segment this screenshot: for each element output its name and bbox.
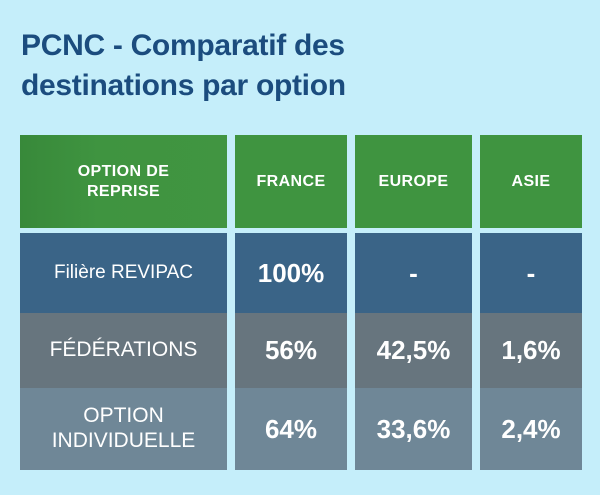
column-header-option-de-reprise: OPTION DE REPRISE [20, 135, 227, 228]
cell-federations-france: 56% [235, 313, 347, 388]
column-header-france: FRANCE [235, 135, 347, 228]
table-row: FÉDÉRATIONS 56% 42,5% 1,6% [20, 313, 580, 388]
cell-individuelle-europe: 33,6% [355, 388, 472, 470]
table-header-row: OPTION DE REPRISE FRANCE EUROPE ASIE [20, 135, 580, 228]
page-title: PCNC - Comparatif des destinations par o… [21, 26, 561, 105]
table-row: Filière REVIPAC 100% - - [20, 233, 580, 313]
cell-individuelle-asie: 2,4% [480, 388, 582, 470]
column-header-europe: EUROPE [355, 135, 472, 228]
cell-revipac-asie: - [480, 233, 582, 313]
row-label-option-individuelle: OPTION INDIVIDUELLE [20, 388, 227, 470]
table-body: Filière REVIPAC 100% - - FÉDÉRATIONS 56%… [20, 233, 580, 470]
cell-individuelle-france: 64% [235, 388, 347, 470]
cell-revipac-france: 100% [235, 233, 347, 313]
row-label-revipac: Filière REVIPAC [20, 233, 227, 313]
comparison-table: OPTION DE REPRISE FRANCE EUROPE ASIE Fil… [20, 135, 580, 470]
column-header-asie: ASIE [480, 135, 582, 228]
cell-federations-europe: 42,5% [355, 313, 472, 388]
row-label-federations: FÉDÉRATIONS [20, 313, 227, 388]
table-row: OPTION INDIVIDUELLE 64% 33,6% 2,4% [20, 388, 580, 470]
cell-federations-asie: 1,6% [480, 313, 582, 388]
cell-revipac-europe: - [355, 233, 472, 313]
